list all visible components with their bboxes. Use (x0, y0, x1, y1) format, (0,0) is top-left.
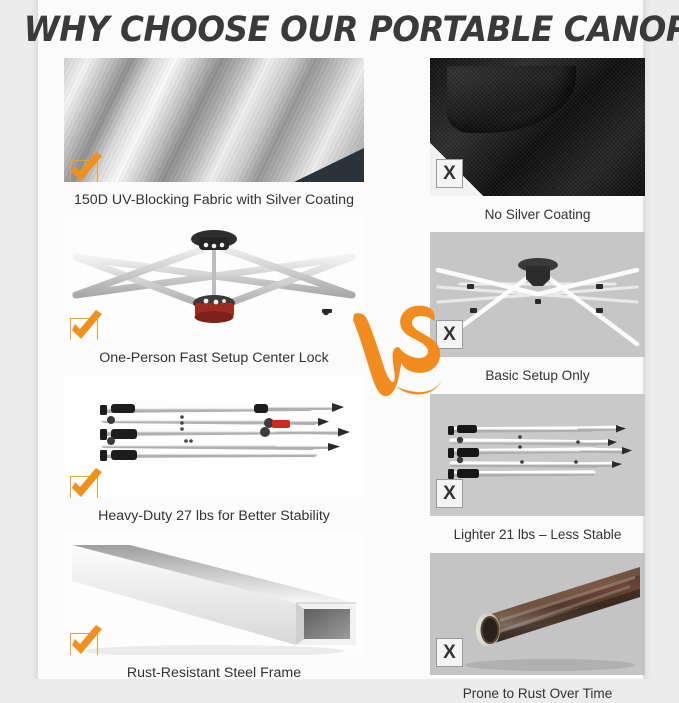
plain-black-fabric-photo: X (430, 58, 645, 196)
square-steel-tube-photo (64, 533, 364, 655)
con-item-3: X Lighter 21 lbs – Less Stable (430, 394, 645, 544)
canopy-frame-center-lock-photo (64, 217, 364, 340)
cons-column: X No Silver Coating (430, 58, 645, 703)
folded-heavy-frame-photo (64, 375, 364, 498)
pro-item-1: 150D UV-Blocking Fabric with Silver Coat… (64, 58, 364, 209)
basic-canopy-frame-photo: X (430, 232, 645, 357)
con-caption-3: Lighter 21 lbs – Less Stable (430, 526, 645, 544)
pro-item-2: One-Person Fast Setup Center Lock (64, 217, 364, 367)
page-title: WHY CHOOSE OUR PORTABLE CANOPY? (24, 10, 655, 50)
con-item-2: X Basic Setup Only (430, 232, 645, 385)
pro-caption-4: Rust-Resistant Steel Frame (64, 664, 364, 682)
silver-coated-fabric-photo (64, 58, 364, 182)
folded-light-frame-photo: X (430, 394, 645, 516)
x-icon: X (436, 479, 463, 508)
check-icon (70, 633, 98, 655)
pro-caption-3: Heavy-Duty 27 lbs for Better Stability (64, 507, 364, 525)
con-caption-4: Prone to Rust Over Time (430, 685, 645, 703)
x-icon: X (436, 159, 463, 188)
pro-caption-2: One-Person Fast Setup Center Lock (64, 349, 364, 367)
con-item-1: X No Silver Coating (430, 58, 645, 224)
pros-column: 150D UV-Blocking Fabric with Silver Coat… (64, 58, 364, 682)
pro-caption-1: 150D UV-Blocking Fabric with Silver Coat… (64, 191, 364, 209)
x-badge-label: X (443, 484, 456, 503)
check-icon (70, 318, 98, 340)
vs-badge (352, 300, 447, 405)
check-icon (70, 160, 98, 182)
con-caption-1: No Silver Coating (430, 206, 645, 224)
pro-item-4: Rust-Resistant Steel Frame (64, 533, 364, 682)
x-badge-label: X (443, 643, 456, 662)
x-badge-label: X (443, 164, 456, 183)
pro-item-3: Heavy-Duty 27 lbs for Better Stability (64, 375, 364, 525)
con-caption-2: Basic Setup Only (430, 367, 645, 385)
rusty-round-pipe-photo: X (430, 553, 645, 675)
con-item-4: X Prone to Rust Over Time (430, 553, 645, 703)
check-icon (70, 476, 98, 498)
x-icon: X (436, 638, 463, 667)
